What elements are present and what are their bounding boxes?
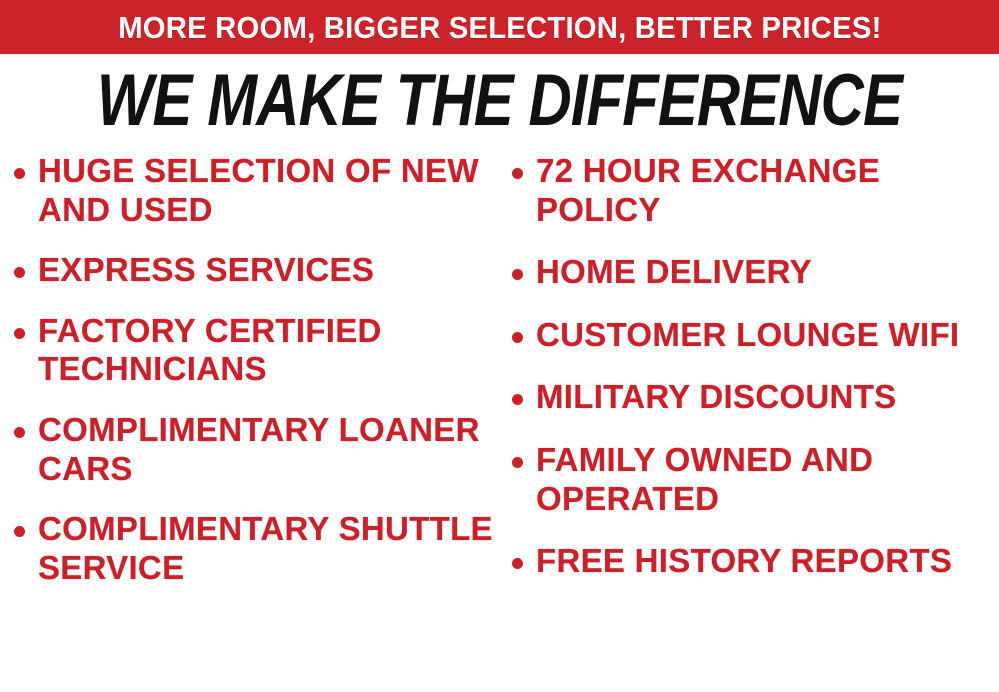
list-item: HOME DELIVERY bbox=[512, 253, 999, 292]
list-item: FREE HISTORY REPORTS bbox=[512, 542, 999, 581]
bullet-dot-icon bbox=[14, 168, 25, 179]
list-item: HUGE SELECTION OF NEW AND USED bbox=[14, 152, 504, 229]
list-item-label: FAMILY OWNED AND OPERATED bbox=[536, 441, 999, 518]
list-item-label: HUGE SELECTION OF NEW AND USED bbox=[38, 152, 504, 229]
list-item-label: MILITARY DISCOUNTS bbox=[536, 378, 999, 417]
bullet-dot-icon bbox=[14, 427, 25, 438]
list-item-label: COMPLIMENTARY LOANER CARS bbox=[38, 411, 504, 488]
list-item: CUSTOMER LOUNGE WIFI bbox=[512, 316, 999, 355]
bullet-dot-icon bbox=[512, 558, 523, 569]
promo-banner-text: MORE ROOM, BIGGER SELECTION, BETTER PRIC… bbox=[118, 12, 881, 43]
list-item: FAMILY OWNED AND OPERATED bbox=[512, 441, 999, 518]
list-item-label: CUSTOMER LOUNGE WIFI bbox=[536, 316, 999, 355]
list-item: FACTORY CERTIFIED TECHNICIANS bbox=[14, 312, 504, 389]
bullet-dot-icon bbox=[512, 394, 523, 405]
bullet-dot-icon bbox=[512, 457, 523, 468]
feature-columns: HUGE SELECTION OF NEW AND USED EXPRESS S… bbox=[0, 152, 999, 692]
bullet-dot-icon bbox=[512, 332, 523, 343]
bullet-dot-icon bbox=[512, 269, 523, 280]
headline-text: WE MAKE THE DIFFERENCE bbox=[97, 63, 902, 136]
list-item: COMPLIMENTARY LOANER CARS bbox=[14, 411, 504, 488]
list-item-label: HOME DELIVERY bbox=[536, 253, 999, 292]
list-item: COMPLIMENTARY SHUTTLE SERVICE bbox=[14, 510, 504, 587]
bullet-dot-icon bbox=[14, 267, 25, 278]
list-item-label: COMPLIMENTARY SHUTTLE SERVICE bbox=[38, 510, 504, 587]
feature-column-right: 72 HOUR EXCHANGE POLICY HOME DELIVERY CU… bbox=[512, 152, 999, 605]
list-item: 72 HOUR EXCHANGE POLICY bbox=[512, 152, 999, 229]
list-item: MILITARY DISCOUNTS bbox=[512, 378, 999, 417]
list-item-label: FREE HISTORY REPORTS bbox=[536, 542, 999, 581]
bullet-dot-icon bbox=[14, 526, 25, 537]
list-item-label: EXPRESS SERVICES bbox=[38, 251, 504, 290]
bullet-dot-icon bbox=[512, 168, 523, 179]
list-item-label: 72 HOUR EXCHANGE POLICY bbox=[536, 152, 999, 229]
list-item: EXPRESS SERVICES bbox=[14, 251, 504, 290]
bullet-dot-icon bbox=[14, 328, 25, 339]
headline: WE MAKE THE DIFFERENCE bbox=[0, 66, 999, 134]
list-item-label: FACTORY CERTIFIED TECHNICIANS bbox=[38, 312, 504, 389]
feature-column-left: HUGE SELECTION OF NEW AND USED EXPRESS S… bbox=[14, 152, 504, 609]
promo-banner: MORE ROOM, BIGGER SELECTION, BETTER PRIC… bbox=[0, 0, 999, 54]
